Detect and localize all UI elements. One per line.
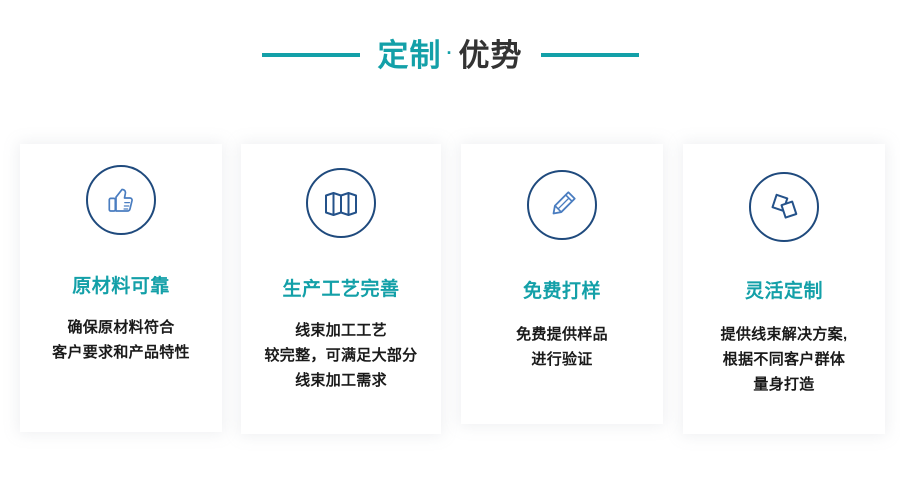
description-line: 免费提供样品 bbox=[469, 322, 655, 347]
icon-ring bbox=[527, 170, 597, 240]
description-line: 提供线束解决方案, bbox=[691, 322, 877, 347]
page-title-separator: · bbox=[446, 44, 455, 62]
thumbs-up-icon bbox=[103, 182, 139, 218]
advantage-card-row: 原材料可靠 确保原材料符合 客户要求和产品特性 生产工艺完善 线束加工工艺 较完… bbox=[0, 144, 900, 444]
advantage-card[interactable]: 灵活定制 提供线束解决方案, 根据不同客户群体 量身打造 bbox=[683, 144, 885, 434]
section-title: 定制 · 优势 bbox=[0, 30, 900, 80]
description-line: 进行验证 bbox=[469, 347, 655, 372]
description-line: 较完整，可满足大部分 bbox=[249, 343, 433, 368]
page-title-main: 优势 bbox=[459, 40, 523, 71]
advantage-card[interactable]: 生产工艺完善 线束加工工艺 较完整，可满足大部分 线束加工需求 bbox=[241, 144, 441, 434]
description-line: 线束加工需求 bbox=[249, 368, 433, 393]
page-title-accent: 定制 bbox=[378, 40, 442, 71]
icon-ring bbox=[749, 172, 819, 242]
description-line: 线束加工工艺 bbox=[249, 318, 433, 343]
advantage-card-title: 生产工艺完善 bbox=[241, 280, 441, 299]
description-line: 确保原材料符合 bbox=[28, 315, 214, 340]
advantage-card[interactable]: 原材料可靠 确保原材料符合 客户要求和产品特性 bbox=[20, 144, 222, 432]
pencil-icon bbox=[543, 186, 581, 224]
icon-ring bbox=[306, 168, 376, 238]
description-line: 量身打造 bbox=[691, 372, 877, 397]
title-rule-right bbox=[541, 53, 639, 57]
page-title: 定制 · 优势 bbox=[378, 40, 523, 71]
advantage-card-title: 原材料可靠 bbox=[20, 277, 222, 296]
stacked-cards-icon bbox=[765, 188, 803, 226]
advantage-card-title: 免费打样 bbox=[461, 282, 663, 301]
advantage-card-description: 提供线束解决方案, 根据不同客户群体 量身打造 bbox=[683, 322, 885, 397]
folded-map-icon bbox=[322, 185, 360, 221]
icon-ring bbox=[86, 165, 156, 235]
advantage-card-title: 灵活定制 bbox=[683, 282, 885, 301]
advantage-card-description: 免费提供样品 进行验证 bbox=[461, 322, 663, 372]
advantage-card[interactable]: 免费打样 免费提供样品 进行验证 bbox=[461, 144, 663, 424]
advantage-card-description: 确保原材料符合 客户要求和产品特性 bbox=[20, 315, 222, 365]
description-line: 根据不同客户群体 bbox=[691, 347, 877, 372]
advantage-card-description: 线束加工工艺 较完整，可满足大部分 线束加工需求 bbox=[241, 318, 441, 393]
title-rule-left bbox=[262, 53, 360, 57]
description-line: 客户要求和产品特性 bbox=[28, 340, 214, 365]
